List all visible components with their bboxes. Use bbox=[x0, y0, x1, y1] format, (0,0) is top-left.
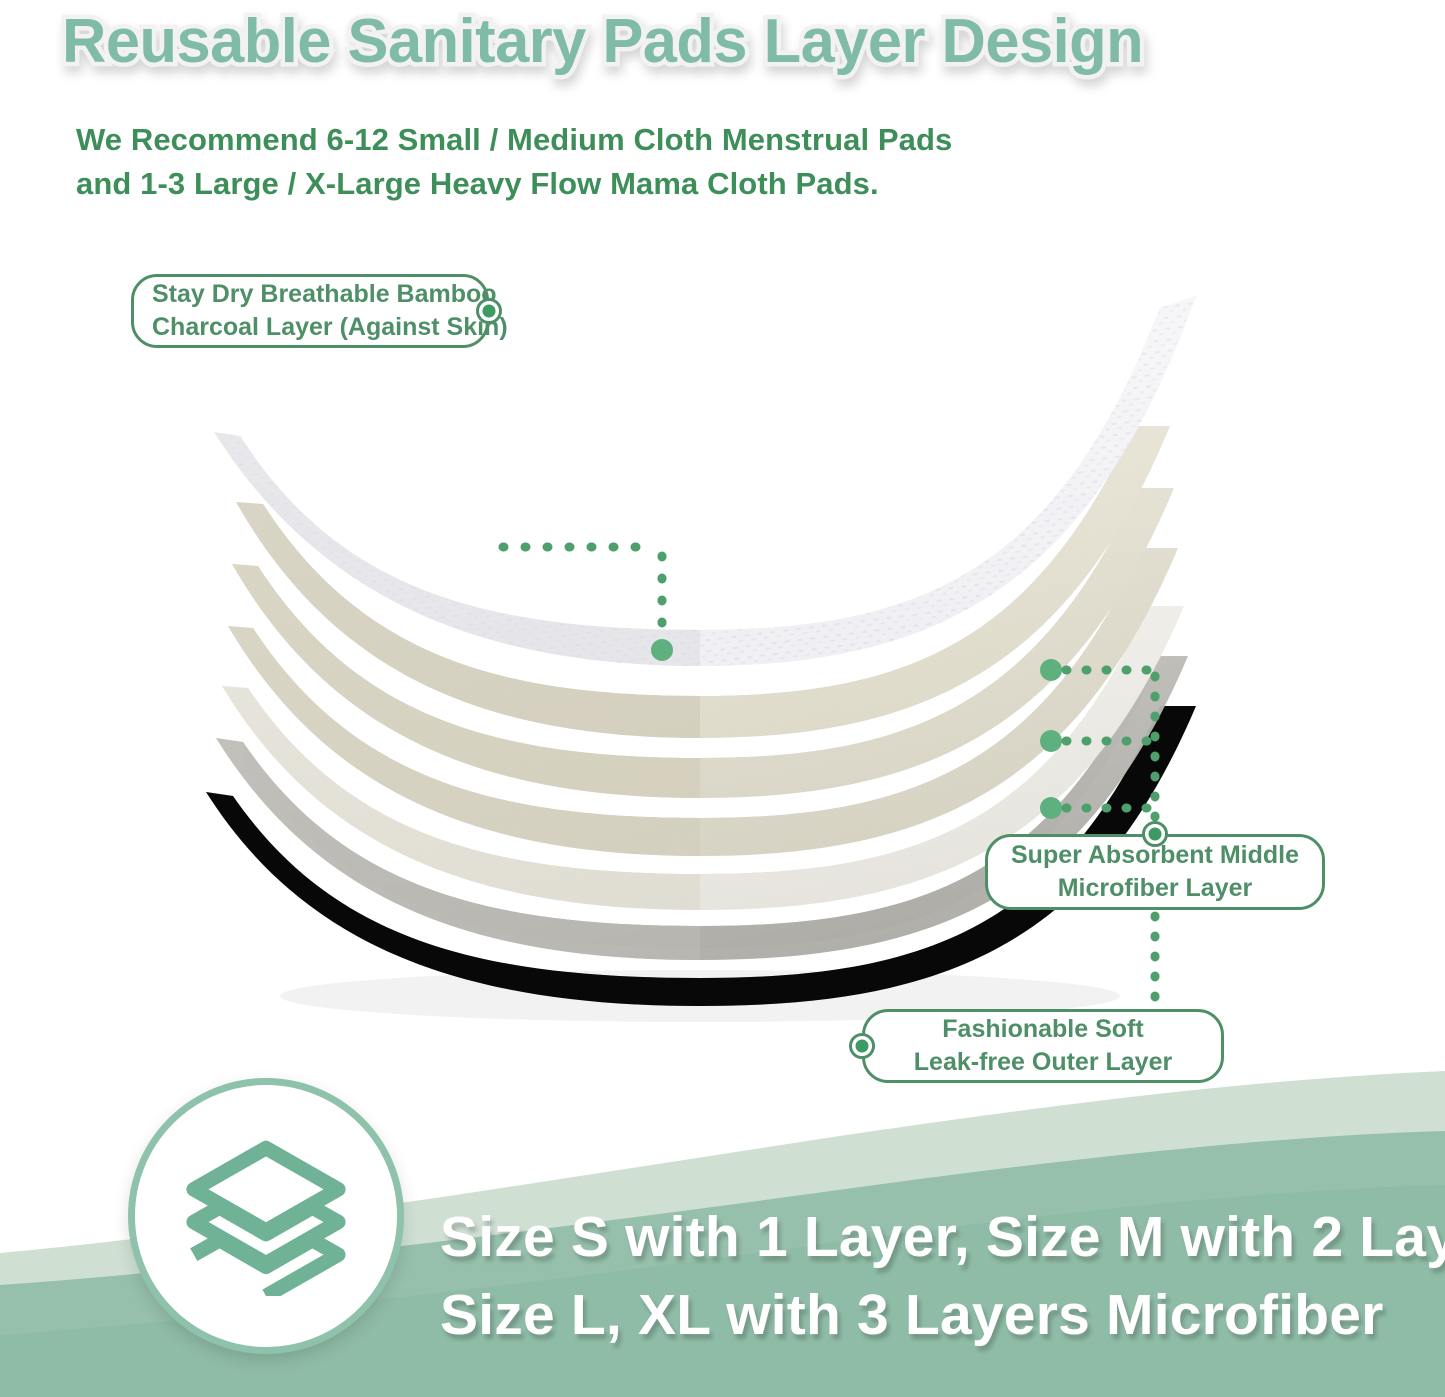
banner-line-2: Size L, XL with 3 Layers Microfiber bbox=[440, 1276, 1415, 1354]
connector-dot-middle bbox=[1142, 821, 1168, 847]
pad-layers-illustration bbox=[0, 236, 1445, 1066]
callout-leak-free-outer-layer[interactable]: Fashionable Soft Leak-free Outer Layer bbox=[862, 1009, 1224, 1083]
banner-size-text: Size S with 1 Layer, Size M with 2 Layer… bbox=[440, 1198, 1415, 1378]
layers-stack-icon bbox=[180, 1136, 352, 1296]
callout-top-line-2: Charcoal Layer (Against Skin) bbox=[152, 311, 508, 344]
callout-bottom-line-1: Fashionable Soft bbox=[914, 1013, 1172, 1046]
page-title: Reusable Sanitary Pads Layer Design bbox=[62, 6, 1349, 78]
subtitle-line-2: and 1-3 Large / X-Large Heavy Flow Mama … bbox=[76, 162, 1026, 206]
connector-dot-top bbox=[476, 298, 502, 324]
recommendation-subtitle: We Recommend 6-12 Small / Medium Cloth M… bbox=[76, 118, 1026, 206]
connector-dot-bottom bbox=[849, 1033, 875, 1059]
banner-line-1: Size S with 1 Layer, Size M with 2 Layer… bbox=[440, 1198, 1415, 1276]
subtitle-line-1: We Recommend 6-12 Small / Medium Cloth M… bbox=[76, 118, 1026, 162]
callout-bottom-line-2: Leak-free Outer Layer bbox=[914, 1046, 1172, 1079]
callout-bamboo-charcoal-layer[interactable]: Stay Dry Breathable Bamboo Charcoal Laye… bbox=[131, 274, 489, 348]
layers-logo-badge bbox=[128, 1078, 404, 1354]
callout-middle-line-2: Microfiber Layer bbox=[1011, 872, 1299, 905]
callout-top-line-1: Stay Dry Breathable Bamboo bbox=[152, 278, 508, 311]
